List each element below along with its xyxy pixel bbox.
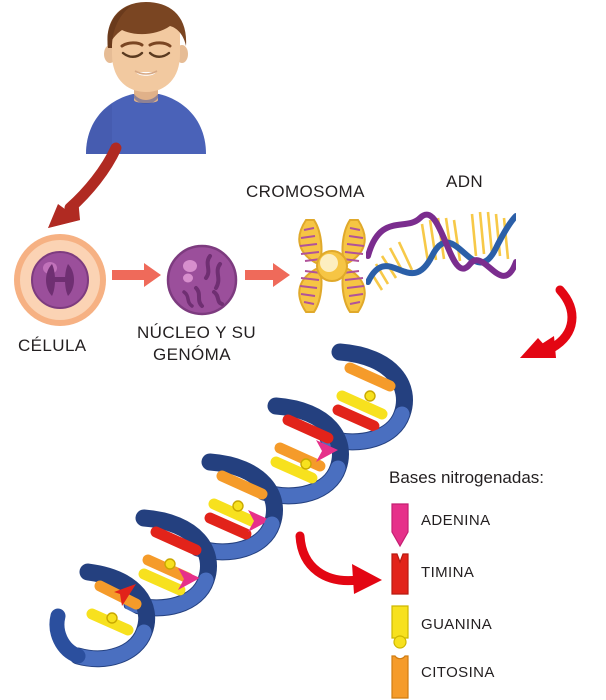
timina-icon [389, 552, 411, 598]
cell-illustration [12, 232, 108, 328]
helix-turn [198, 462, 274, 552]
arrow-nucleus-to-chromosome [245, 262, 291, 288]
legend-label-citosina: CITOSINA [421, 664, 495, 682]
small-dna-helix [366, 204, 516, 314]
arrow-helix-to-legend [296, 536, 392, 598]
legend-label-guanina: GUANINA [421, 616, 492, 634]
chromosome-illustration [288, 216, 376, 316]
label-cromosoma: CROMOSOMA [246, 182, 365, 202]
legend-item-timina [389, 552, 411, 598]
legend-item-citosina [389, 654, 411, 700]
helix-turn [264, 406, 340, 496]
dna-double-helix [88, 346, 440, 664]
citosina-icon [389, 654, 411, 700]
adenina-icon [389, 502, 411, 548]
label-celula: CÉLULA [18, 336, 87, 356]
legend-title: Bases nitrogenadas: [389, 468, 604, 488]
nucleus-illustration [166, 244, 238, 316]
arrow-cell-to-nucleus [112, 262, 162, 288]
human-figure [78, 2, 214, 154]
legend-label-timina: TIMINA [421, 564, 474, 582]
label-nucleo-line1: NÚCLEO Y SU [137, 323, 256, 343]
legend-item-guanina [389, 604, 411, 650]
arrow-adn-to-helix [498, 288, 600, 374]
guanina-icon [389, 604, 411, 650]
arrow-person-to-cell [36, 142, 132, 238]
helix-turn [57, 572, 147, 659]
legend-label-adenina: ADENINA [421, 512, 490, 530]
legend-item-adenina [389, 502, 411, 548]
legend-bases-nitrogenadas: Bases nitrogenadas: ADENINA TIMINA GUANI… [389, 468, 604, 488]
label-adn: ADN [446, 172, 483, 192]
diagram-canvas: CÉLULA NÚCLEO Y SU GENÓMA CROMOSOMA ADN [0, 0, 606, 686]
